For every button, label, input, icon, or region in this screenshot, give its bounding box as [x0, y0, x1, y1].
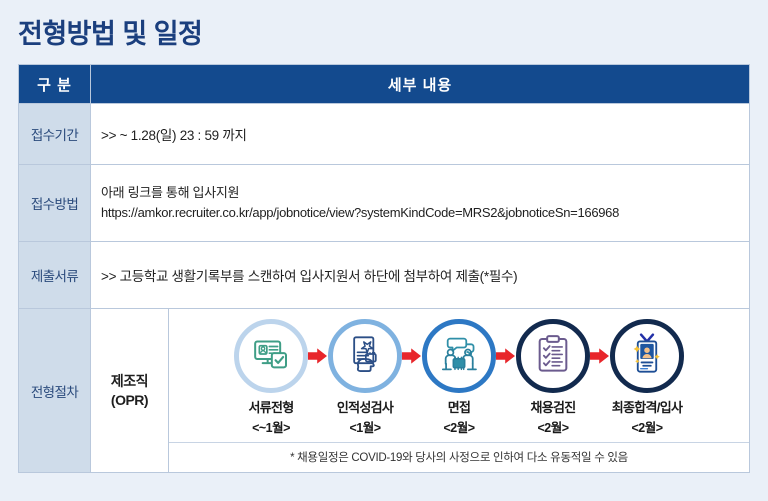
clipboard-checklist-icon: [534, 334, 572, 379]
process-flow-wrapper: 서류전형<~1월> 인적성검사<1월> 면접<2월>: [169, 309, 749, 472]
id-badge-icon: [629, 333, 665, 380]
process-step-circle: [610, 319, 684, 393]
process-step: 면접<2월>: [415, 319, 503, 436]
document-head-profile-icon: [345, 334, 385, 379]
row-label-selection-process: 전형절차: [19, 309, 91, 473]
application-link-url[interactable]: https://amkor.recruiter.co.kr/app/jobnot…: [101, 203, 739, 223]
process-step-circle: [422, 319, 496, 393]
recruitment-info-table: 구 분 세부 내용 접수기간 >> ~ 1.28(일) 23 : 59 까지 접…: [18, 64, 750, 473]
row-label-application-method: 접수방법: [19, 165, 91, 242]
job-type-line-1: 제조직: [92, 372, 167, 391]
process-arrow-icon: [307, 319, 329, 393]
application-method-instruction: 아래 링크를 통해 입사지원: [101, 183, 739, 203]
process-step: 최종합격/입사<2월>: [603, 319, 691, 436]
process-arrow-icon: [495, 319, 517, 393]
process-step: 인적성검사<1월>: [321, 319, 409, 436]
process-flow-cell: 서류전형<~1월> 인적성검사<1월> 면접<2월>: [169, 309, 750, 473]
process-step-period: <1월>: [349, 417, 380, 436]
header-cell-details: 세부 내용: [91, 65, 750, 104]
process-arrow-icon: [401, 319, 423, 393]
process-step-period: <2월>: [443, 417, 474, 436]
process-step-label: 인적성검사: [337, 400, 393, 417]
process-step-circle: [328, 319, 402, 393]
process-step-period: <~1월>: [252, 417, 290, 436]
row-content-required-documents: >> 고등학교 생활기록부를 스캔하여 입사지원서 하단에 첨부하여 제출(*필…: [91, 242, 750, 309]
process-note: * 채용일정은 COVID-19와 당사의 사정으로 인하여 다소 유동적일 수…: [169, 442, 749, 472]
table-row-selection-process: 전형절차 제조직 (OPR) 서류전형<~1월> 인적성검: [19, 309, 750, 473]
page-container: 전형방법 및 일정 구 분 세부 내용 접수기간 >> ~ 1.28(일) 23…: [0, 0, 768, 501]
table-row-application-period: 접수기간 >> ~ 1.28(일) 23 : 59 까지: [19, 104, 750, 165]
process-step-period: <2월>: [537, 417, 568, 436]
row-content-application-period: >> ~ 1.28(일) 23 : 59 까지: [91, 104, 750, 165]
header-cell-division: 구 분: [19, 65, 91, 104]
process-step-period: <2월>: [631, 417, 662, 436]
row-content-application-method: 아래 링크를 통해 입사지원 https://amkor.recruiter.c…: [91, 165, 750, 242]
process-step-circle: [516, 319, 590, 393]
table-header-row: 구 분 세부 내용: [19, 65, 750, 104]
process-step: 서류전형<~1월>: [227, 319, 315, 436]
row-label-required-documents: 제출서류: [19, 242, 91, 309]
table-row-required-documents: 제출서류 >> 고등학교 생활기록부를 스캔하여 입사지원서 하단에 첨부하여 …: [19, 242, 750, 309]
process-arrow-icon: [589, 319, 611, 393]
process-step-circle: [234, 319, 308, 393]
interview-people-icon: [438, 334, 480, 379]
job-type-label: 제조직 (OPR): [91, 309, 169, 473]
process-step-label: 면접: [448, 400, 471, 417]
process-step: 채용검진<2월>: [509, 319, 597, 436]
process-step-label: 서류전형: [248, 400, 293, 417]
table-row-application-method: 접수방법 아래 링크를 통해 입사지원 https://amkor.recrui…: [19, 165, 750, 242]
job-type-line-2: (OPR): [92, 391, 167, 410]
page-title: 전형방법 및 일정: [18, 0, 750, 64]
row-label-application-period: 접수기간: [19, 104, 91, 165]
process-step-list: 서류전형<~1월> 인적성검사<1월> 면접<2월>: [169, 309, 749, 442]
monitor-document-check-icon: [251, 334, 291, 379]
process-step-label: 최종합격/입사: [612, 400, 682, 417]
process-step-label: 채용검진: [530, 400, 575, 417]
